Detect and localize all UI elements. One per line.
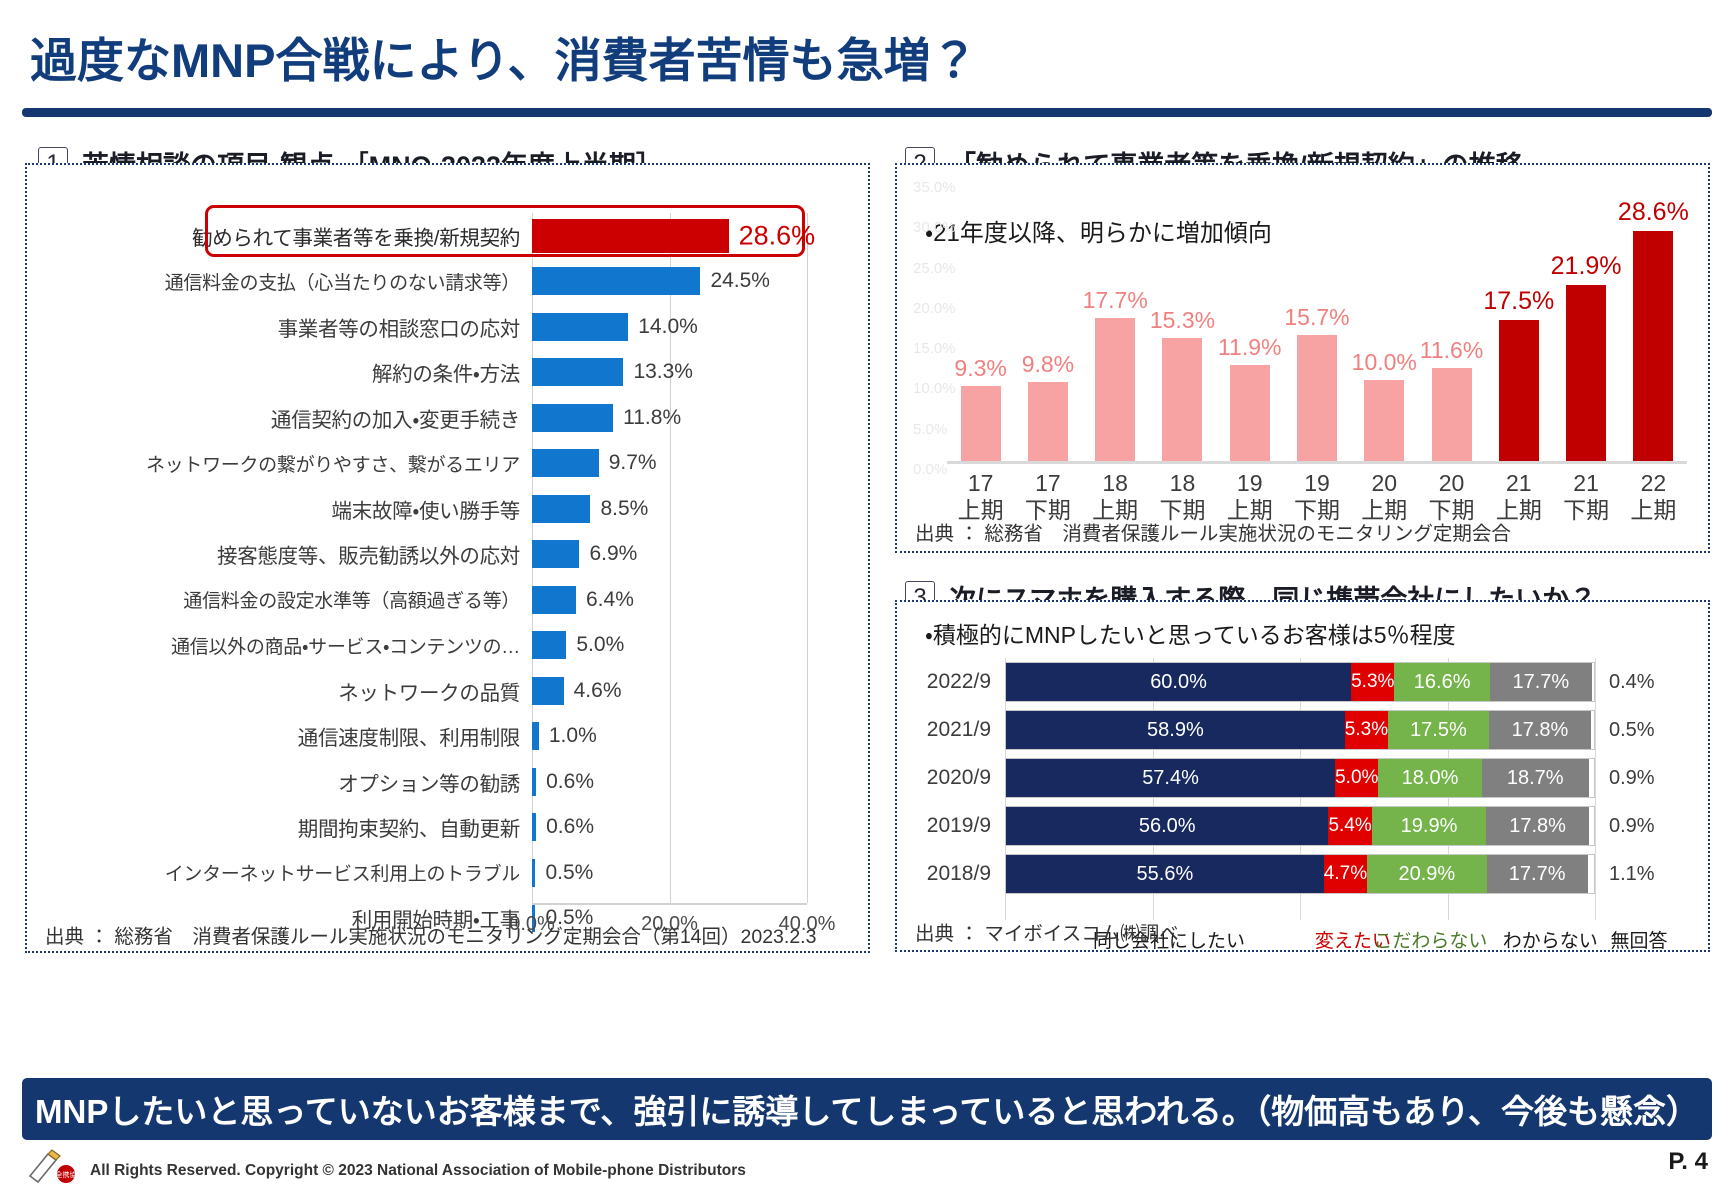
bar-row: 期間拘束契約、自動更新0.6% — [27, 805, 872, 851]
bar-value-label: 24.5% — [710, 269, 770, 293]
bar-row: 通信料金の支払（心当たりのない請求等）24.5% — [27, 259, 872, 305]
column-x-label-year: 17 — [958, 470, 1004, 497]
stacked-track: 57.4%5.0%18.0%18.7% — [1005, 758, 1595, 798]
bar-fill — [532, 495, 590, 523]
stacked-bar-row: 2022/960.0%5.3%16.6%17.7%0.4% — [897, 658, 1712, 706]
stacked-segment: 18.7% — [1482, 759, 1589, 797]
column-item: 17.5% — [1499, 179, 1539, 461]
bar-value-label: 6.4% — [586, 588, 634, 612]
bar-row: 通信契約の加入・変更手続き11.8% — [27, 395, 872, 441]
stacked-segment-label: 17.8% — [1509, 815, 1566, 838]
stacked-segment-label: 17.7% — [1509, 863, 1566, 886]
column-item: 15.3% — [1162, 179, 1202, 461]
column-bar — [1364, 380, 1404, 461]
page-number: P. 4 — [1668, 1148, 1708, 1176]
svg-text:全携協: 全携協 — [56, 1170, 77, 1179]
stacked-segment: 18.0% — [1378, 759, 1481, 797]
bar-value-label: 4.6% — [574, 679, 622, 703]
bar-value-label: 0.6% — [546, 770, 594, 794]
stacked-segment-label: 5.4% — [1328, 815, 1371, 837]
bar-category-label: 端末故障・使い勝手等 — [27, 494, 532, 524]
column-value-label: 9.8% — [1022, 351, 1074, 378]
bar-track: 0.6% — [532, 759, 872, 805]
bar-fill — [532, 631, 566, 659]
column-value-label: 15.7% — [1284, 304, 1349, 331]
stacked-segment: 19.9% — [1372, 807, 1487, 845]
bar-track: 9.7% — [532, 441, 872, 487]
bar-value-label: 5.0% — [576, 633, 624, 657]
bar-fill — [532, 722, 539, 750]
stacked-segment: 60.0% — [1006, 663, 1351, 701]
column-x-label-year: 18 — [1159, 470, 1205, 497]
stacked-segment: 4.7% — [1324, 855, 1367, 893]
stacked-segment-label: 17.7% — [1512, 671, 1569, 694]
stacked-segment-label: 17.8% — [1512, 719, 1569, 742]
stacked-segment-label: 18.7% — [1507, 767, 1564, 790]
bar-track: 14.0% — [532, 304, 872, 350]
bar-track: 6.4% — [532, 577, 872, 623]
stacked-row-year: 2021/9 — [897, 718, 1005, 742]
column-value-label: 17.5% — [1483, 287, 1554, 316]
bar-value-label: 9.7% — [609, 451, 657, 475]
bar-fill — [532, 677, 564, 705]
panel2-container: ・21年度以降、明らかに増加傾向 35.0%30.0%25.0%20.0%15.… — [895, 163, 1710, 553]
bar-fill — [532, 313, 628, 341]
y-tick-label: 5.0% — [913, 421, 947, 438]
stacked-track: 58.9%5.3%17.5%17.8% — [1005, 710, 1595, 750]
column-x-label-year: 21 — [1496, 470, 1542, 497]
legend-item: 無回答 — [1610, 926, 1667, 953]
stacked-segment: 57.4% — [1006, 759, 1335, 797]
y-tick-label: 0.0% — [913, 461, 947, 478]
panel2-source: 出典 ： 総務省 消費者保護ルール実施状況のモニタリング定期会合 — [915, 517, 1511, 546]
column-item: 10.0% — [1364, 179, 1404, 461]
column-x-label-year: 22 — [1630, 470, 1676, 497]
stacked-segment-label: 18.0% — [1402, 767, 1459, 790]
bar-row: ネットワークの繋がりやすさ、繋がるエリア9.7% — [27, 441, 872, 487]
stacked-segment: 55.6% — [1006, 855, 1324, 893]
bar-row: 解約の条件・方法13.3% — [27, 350, 872, 396]
column-item: 15.7% — [1297, 179, 1337, 461]
bar-track: 11.8% — [532, 395, 872, 441]
column-item: 21.9% — [1566, 179, 1606, 461]
bar-track: 1.0% — [532, 714, 872, 760]
column-x-label-half: 下期 — [1563, 497, 1609, 524]
column-value-label: 11.9% — [1218, 334, 1282, 361]
column-bar — [1028, 382, 1068, 461]
stacked-bar-row: 2021/958.9%5.3%17.5%17.8%0.5% — [897, 706, 1712, 754]
bar-fill — [532, 267, 700, 295]
bar-category-label: ネットワークの品質 — [27, 676, 532, 706]
bar-category-label: 事業者等の相談窓口の応対 — [27, 312, 532, 342]
bar-fill — [532, 404, 613, 432]
column-bar — [1230, 365, 1270, 461]
stacked-segment: 58.9% — [1006, 711, 1345, 749]
column-item: 17.7% — [1095, 179, 1135, 461]
stacked-track: 55.6%4.7%20.9%17.7% — [1005, 854, 1595, 894]
stacked-segment-no-answer — [1591, 711, 1594, 749]
panel1-source: 出典 ： 総務省 消費者保護ルール実施状況のモニタリング定期会合（第14回）20… — [45, 920, 816, 949]
bar-category-label: 通信以外の商品・サービス・コンテンツの… — [27, 632, 532, 659]
stacked-track: 60.0%5.3%16.6%17.7% — [1005, 662, 1595, 702]
column-x-label-year: 18 — [1092, 470, 1138, 497]
column-value-label: 21.9% — [1551, 252, 1622, 281]
stacked-segment: 56.0% — [1006, 807, 1328, 845]
column-bar — [1633, 231, 1673, 461]
bar-fill — [532, 358, 623, 386]
bar-category-label: 通信速度制限、利用制限 — [27, 721, 532, 751]
bar-track: 6.9% — [532, 532, 872, 578]
column-bar — [961, 386, 1001, 461]
bar-row: オプション等の勧誘0.6% — [27, 759, 872, 805]
stacked-segment-label: 16.6% — [1414, 671, 1471, 694]
bar-track: 5.0% — [532, 623, 872, 669]
stacked-segment-label: 17.5% — [1410, 719, 1467, 742]
bar-category-label: オプション等の勧誘 — [27, 767, 532, 797]
column-value-label: 28.6% — [1618, 198, 1689, 227]
bar-value-label: 0.6% — [546, 815, 594, 839]
stacked-row-year: 2020/9 — [897, 766, 1005, 790]
stacked-segment: 5.3% — [1351, 663, 1394, 701]
column-x-label-year: 20 — [1429, 470, 1475, 497]
stacked-segment-label: 20.9% — [1398, 863, 1455, 886]
column-value-label: 17.7% — [1083, 287, 1148, 314]
stacked-segment-label: 5.3% — [1351, 671, 1394, 693]
column-bar — [1432, 368, 1472, 461]
stacked-segment-label: 56.0% — [1139, 815, 1196, 838]
bar-value-label: 8.5% — [600, 497, 648, 521]
stacked-bar-row: 2020/957.4%5.0%18.0%18.7%0.9% — [897, 754, 1712, 802]
bar-fill — [532, 859, 535, 887]
conclusion-banner: MNPしたいと思っていないお客様まで、強引に誘導してしまっていると思われる。（物… — [22, 1078, 1712, 1140]
page-title: 過度なMNP合戦により、消費者苦情も急増？ — [30, 22, 978, 91]
bar-fill — [532, 449, 599, 477]
column-item: 9.8% — [1028, 179, 1068, 461]
bar-row: ネットワークの品質4.6% — [27, 668, 872, 714]
stacked-segment-no-answer — [1589, 759, 1594, 797]
stacked-segment: 16.6% — [1394, 663, 1489, 701]
column-bar — [1297, 335, 1337, 461]
bar-track: 0.5% — [532, 850, 872, 896]
stacked-segment: 5.0% — [1335, 759, 1378, 797]
column-x-label-year: 17 — [1025, 470, 1071, 497]
stacked-segment-label: 60.0% — [1150, 671, 1207, 694]
bar-category-label: 期間拘束契約、自動更新 — [27, 812, 532, 842]
stacked-segment-no-answer — [1588, 855, 1594, 893]
panel3-container: ・積極的にMNPしたいと思っているお客様は5％程度 2022/960.0%5.3… — [895, 600, 1710, 952]
stacked-segment-no-answer — [1592, 663, 1594, 701]
bar-track: 13.3% — [532, 350, 872, 396]
column-bar — [1162, 338, 1202, 461]
bar-row: 通信以外の商品・サービス・コンテンツの…5.0% — [27, 623, 872, 669]
bar-row: 端末故障・使い勝手等8.5% — [27, 486, 872, 532]
stacked-no-answer-label: 0.9% — [1595, 815, 1675, 838]
bar-row: 勧められて事業者等を乗換/新規契約28.6% — [27, 213, 872, 259]
column-value-label: 10.0% — [1352, 349, 1417, 376]
bar-row: 接客態度等、販売勧誘以外の応対6.9% — [27, 532, 872, 578]
stacked-segment-label: 5.0% — [1335, 767, 1378, 789]
bar-category-label: ネットワークの繋がりやすさ、繋がるエリア — [27, 450, 532, 477]
stacked-segment-label: 57.4% — [1142, 767, 1199, 790]
bar-value-label: 11.8% — [623, 406, 681, 430]
bar-row: 事業者等の相談窓口の応対14.0% — [27, 304, 872, 350]
bar-value-label: 1.0% — [549, 724, 597, 748]
bar-track: 24.5% — [532, 259, 872, 305]
column-x-label-year: 21 — [1563, 470, 1609, 497]
association-logo-icon: 全携協 — [26, 1146, 78, 1186]
column-item: 11.6% — [1432, 179, 1472, 461]
stacked-no-answer-label: 0.4% — [1595, 671, 1675, 694]
copyright-text: All Rights Reserved. Copyright © 2023 Na… — [90, 1162, 746, 1180]
trend-column-chart: 9.3%9.8%17.7%15.3%11.9%15.7%10.0%11.6%17… — [947, 179, 1687, 461]
bar-fill — [532, 768, 536, 796]
column-bar — [1566, 285, 1606, 461]
bar-fill — [532, 586, 576, 614]
stacked-segment: 17.8% — [1489, 711, 1591, 749]
bar-category-label: インターネットサービス利用上のトラブル — [27, 859, 532, 886]
bar-value-label: 28.6% — [739, 220, 816, 251]
stacked-segment-no-answer — [1589, 807, 1594, 845]
stacked-bar-rows: 2022/960.0%5.3%16.6%17.7%0.4%2021/958.9%… — [897, 658, 1712, 898]
stacked-segment-label: 55.6% — [1137, 863, 1194, 886]
bar-track: 8.5% — [532, 486, 872, 532]
stacked-no-answer-label: 1.1% — [1595, 863, 1675, 886]
column-item: 11.9% — [1230, 179, 1270, 461]
complaint-items-bar-chart: 勧められて事業者等を乗換/新規契約28.6%通信料金の支払（心当たりのない請求等… — [27, 165, 872, 955]
bar-value-label: 13.3% — [633, 360, 693, 384]
column-value-label: 11.6% — [1420, 337, 1484, 364]
stacked-segment: 17.7% — [1490, 663, 1592, 701]
bar-category-label: 解約の条件・方法 — [27, 357, 532, 387]
column-item: 28.6% — [1633, 179, 1673, 461]
bar-fill — [532, 540, 579, 568]
bar-value-label: 14.0% — [638, 315, 698, 339]
bar-category-label: 通信料金の支払（心当たりのない請求等） — [27, 268, 532, 295]
column-item: 9.3% — [961, 179, 1001, 461]
column-x-label-half: 上期 — [1630, 497, 1676, 524]
stacked-segment: 5.4% — [1328, 807, 1371, 845]
column-value-label: 9.3% — [954, 355, 1006, 382]
column-x-label: 21下期 — [1563, 470, 1609, 524]
bar-row: インターネットサービス利用上のトラブル0.5% — [27, 850, 872, 896]
bar-row: 通信料金の設定水準等（高額過ぎる等）6.4% — [27, 577, 872, 623]
conclusion-text: MNPしたいと思っていないお客様まで、強引に誘導してしまっていると思われる。（物… — [35, 1085, 1699, 1133]
bar-fill — [532, 813, 536, 841]
title-divider — [22, 108, 1712, 117]
slide: 過度なMNP合戦により、消費者苦情も急増？ 1 苦情相談の項目・観点 ［MNO・… — [0, 0, 1734, 1200]
stacked-bar-row: 2018/955.6%4.7%20.9%17.7%1.1% — [897, 850, 1712, 898]
stacked-segment-label: 5.3% — [1345, 719, 1388, 741]
stacked-segment: 17.5% — [1388, 711, 1489, 749]
stacked-bar-row: 2019/956.0%5.4%19.9%17.8%0.9% — [897, 802, 1712, 850]
legend-item: わからない — [1503, 926, 1598, 953]
column-x-label-year: 20 — [1361, 470, 1407, 497]
bar-category-label: 接客態度等、販売勧誘以外の応対 — [27, 539, 532, 569]
panel3-note: ・積極的にMNPしたいと思っているお客様は5％程度 — [925, 616, 1456, 650]
bar-category-label: 通信料金の設定水準等（高額過ぎる等） — [27, 586, 532, 613]
stacked-row-year: 2019/9 — [897, 814, 1005, 838]
panel3-source: 出典 ： マイボイスコム㈱調べ — [915, 917, 1179, 946]
column-bar — [1095, 318, 1135, 461]
bar-value-label: 6.9% — [589, 542, 637, 566]
stacked-segment: 5.3% — [1345, 711, 1388, 749]
x-axis-line — [532, 903, 807, 905]
bar-track: 4.6% — [532, 668, 872, 714]
column-value-label: 15.3% — [1150, 307, 1215, 334]
column-bar — [1499, 320, 1539, 461]
stacked-segment-label: 19.9% — [1401, 815, 1458, 838]
bar-rows: 勧められて事業者等を乗換/新規契約28.6%通信料金の支払（心当たりのない請求等… — [27, 213, 872, 941]
legend-item: こだわらない — [1373, 926, 1487, 953]
bar-track: 28.6% — [532, 213, 872, 259]
stacked-segment-label: 58.9% — [1147, 719, 1204, 742]
stacked-track: 56.0%5.4%19.9%17.8% — [1005, 806, 1595, 846]
stacked-row-year: 2018/9 — [897, 862, 1005, 886]
bar-fill — [532, 219, 729, 253]
stacked-no-answer-label: 0.5% — [1595, 719, 1675, 742]
bar-track: 0.6% — [532, 805, 872, 851]
stacked-segment-label: 4.7% — [1324, 863, 1367, 885]
stacked-no-answer-label: 0.9% — [1595, 767, 1675, 790]
column-x-label-year: 19 — [1227, 470, 1273, 497]
bar-value-label: 0.5% — [545, 861, 593, 885]
column-baseline — [947, 461, 1687, 464]
stacked-segment: 20.9% — [1367, 855, 1486, 893]
stacked-row-year: 2022/9 — [897, 670, 1005, 694]
bar-category-label: 通信契約の加入・変更手続き — [27, 403, 532, 433]
column-x-label: 22上期 — [1630, 470, 1676, 524]
panel1-container: 勧められて事業者等を乗換/新規契約28.6%通信料金の支払（心当たりのない請求等… — [25, 163, 870, 953]
bar-category-label: 勧められて事業者等を乗換/新規契約 — [27, 221, 532, 251]
stacked-segment: 17.7% — [1487, 855, 1588, 893]
stacked-segment: 17.8% — [1486, 807, 1588, 845]
column-x-label-year: 19 — [1294, 470, 1340, 497]
bar-row: 通信速度制限、利用制限1.0% — [27, 714, 872, 760]
